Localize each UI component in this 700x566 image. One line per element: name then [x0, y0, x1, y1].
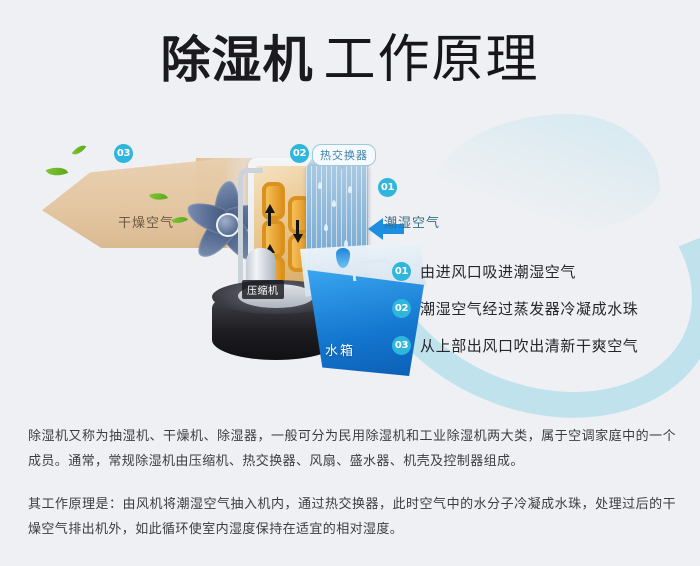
humid-air-label: 潮湿空气	[384, 212, 440, 231]
step-item: 01 由进风口吸进潮湿空气	[392, 253, 692, 290]
step-label: 潮湿空气经过蒸发器冷凝成水珠	[420, 298, 638, 319]
body-copy: 除湿机又称为抽湿机、干燥机、除湿器，一般可分为民用除湿机和工业除湿机两大类，属于…	[28, 424, 676, 560]
airflow-arrow	[296, 220, 299, 234]
airflow-arrow	[268, 212, 271, 226]
water-droplet	[344, 240, 348, 247]
step-badge: 02	[392, 299, 411, 318]
air-inlet-arrow	[368, 218, 383, 240]
fan-hub	[216, 213, 240, 237]
diagram-badge-03: 03	[114, 144, 133, 163]
water-droplet	[332, 200, 336, 207]
step-label: 由进风口吸进潮湿空气	[420, 261, 576, 282]
page-title: 除湿机工作原理	[0, 34, 700, 86]
leaf-icon	[72, 142, 87, 158]
dry-air-label: 干燥空气	[118, 212, 174, 231]
airflow-arrow	[293, 234, 303, 243]
coil-loop	[262, 182, 285, 220]
compressor-label: 压缩机	[242, 280, 284, 299]
step-badge: 03	[392, 336, 411, 355]
infographic-page: 除湿机工作原理	[0, 0, 700, 566]
water-droplet	[348, 186, 352, 193]
title-part-two: 工作原理	[323, 30, 539, 90]
heat-exchanger-callout: 热交换器	[312, 144, 376, 166]
water-droplet	[318, 182, 322, 189]
leaf-icon	[46, 163, 69, 181]
water-tank-label: 水箱	[325, 340, 355, 359]
step-list: 01 由进风口吸进潮湿空气 02 潮湿空气经过蒸发器冷凝成水珠 03 从上部出风…	[392, 253, 692, 364]
body-paragraph-1: 除湿机又称为抽湿机、干燥机、除湿器，一般可分为民用除湿机和工业除湿机两大类，属于…	[28, 424, 676, 474]
step-label: 从上部出风口吹出清新干爽空气	[420, 335, 638, 356]
step-badge: 01	[392, 262, 411, 281]
airflow-arrow	[265, 204, 275, 213]
step-item: 02 潮湿空气经过蒸发器冷凝成水珠	[392, 290, 692, 327]
water-droplet	[324, 224, 328, 231]
diagram-badge-02: 02	[290, 144, 309, 163]
step-item: 03 从上部出风口吹出清新干爽空气	[392, 327, 692, 364]
body-paragraph-2: 其工作原理是：由风机将潮湿空气抽入机内，通过热交换器，此时空气中的水分子冷凝成水…	[28, 492, 676, 542]
diagram-badge-01: 01	[378, 178, 397, 197]
title-part-one: 除湿机	[160, 31, 313, 89]
